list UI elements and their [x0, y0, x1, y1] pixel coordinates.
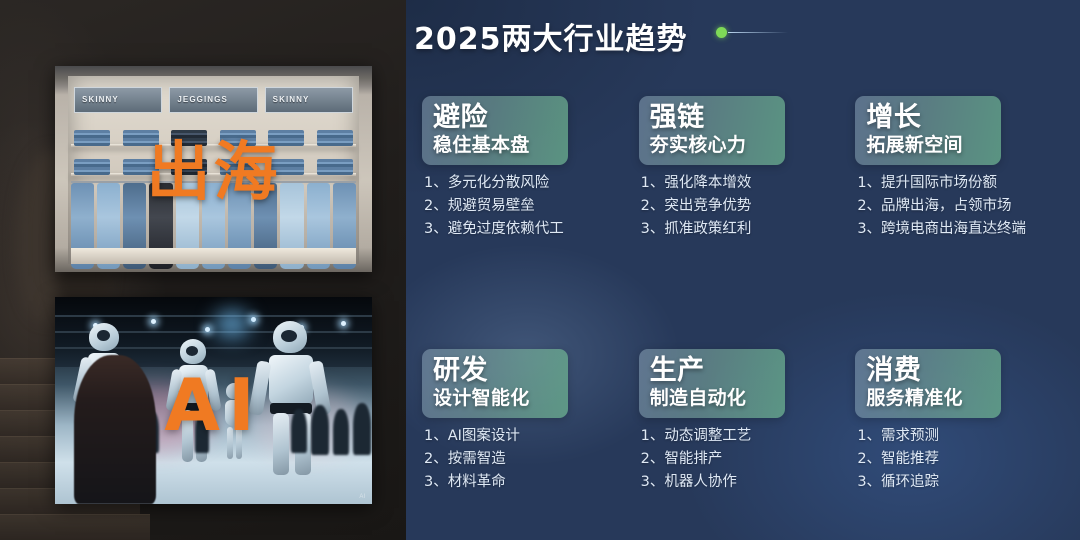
card-subtitle: 拓展新空间 [866, 134, 991, 157]
title-decoration [716, 27, 788, 38]
ai-robots-image: AI AI [55, 297, 372, 504]
page-title: 2025两大行业趋势 [414, 14, 688, 58]
card-badge: 生产 制造自动化 [639, 349, 785, 418]
card-bullet-list: 1、提升国际市场份额 2、品牌出海，占领市场 3、跨境电商出海直达终端 [855, 172, 1063, 241]
left-image-panel: SKINNY JEGGINGS SKINNY [0, 0, 406, 540]
card-badge: 避险 稳住基本盘 [422, 96, 568, 165]
card-bullet: 2、突出竞争优势 [641, 195, 847, 218]
trend-card[interactable]: 消费 服务精准化 1、需求预测 2、智能推荐 3、循环追踪 [855, 349, 1063, 494]
card-bullet: 3、避免过度依赖代工 [424, 218, 630, 241]
slide-canvas: SKINNY JEGGINGS SKINNY [0, 0, 1080, 540]
card-title: 强链 [650, 103, 775, 132]
card-bullet: 3、机器人协作 [641, 471, 847, 494]
shelf-sign: SKINNY [265, 87, 353, 114]
card-title: 增长 [866, 103, 991, 132]
card-badge: 增长 拓展新空间 [855, 96, 1001, 165]
card-bullet: 1、动态调整工艺 [641, 425, 847, 448]
trend-card[interactable]: 生产 制造自动化 1、动态调整工艺 2、智能排产 3、机器人协作 [639, 349, 847, 494]
decoration-line [728, 32, 788, 34]
card-bullet: 1、提升国际市场份额 [857, 172, 1063, 195]
card-badge: 消费 服务精准化 [855, 349, 1001, 418]
card-bullet: 1、AI图案设计 [424, 425, 630, 448]
card-bullet: 2、智能推荐 [857, 448, 1063, 471]
trend-card[interactable]: 强链 夯实核心力 1、强化降本增效 2、突出竞争优势 3、抓准政策红利 [639, 96, 847, 241]
shelf-sign-label: JEGGINGS [177, 95, 228, 104]
card-bullet: 1、需求预测 [857, 425, 1063, 448]
trend-card[interactable]: 避险 稳住基本盘 1、多元化分散风险 2、规避贸易壁垒 3、避免过度依赖代工 [422, 96, 630, 241]
card-badge: 研发 设计智能化 [422, 349, 568, 418]
card-bullet-list: 1、需求预测 2、智能推荐 3、循环追踪 [855, 425, 1063, 494]
shelf-sign-label: SKINNY [273, 95, 310, 104]
shelf-sign: SKINNY [74, 87, 162, 114]
content-panel: 2025两大行业趋势 避险 稳住基本盘 1、多元化分散风险 2、规避贸易壁垒 3… [406, 0, 1080, 540]
card-title: 生产 [650, 356, 775, 385]
image-watermark: AI [359, 494, 366, 500]
card-bullet: 2、规避贸易壁垒 [424, 195, 630, 218]
card-subtitle: 稳住基本盘 [433, 134, 558, 157]
foreground-person [74, 355, 156, 504]
card-bullet: 2、智能排产 [641, 448, 847, 471]
shelf-sign-row: SKINNY JEGGINGS SKINNY [74, 87, 353, 114]
image-overlay-label: AI [164, 363, 263, 447]
card-bullet-list: 1、多元化分散风险 2、规避贸易壁垒 3、避免过度依赖代工 [422, 172, 630, 241]
card-bullet: 2、按需智造 [424, 448, 630, 471]
card-bullet: 2、品牌出海，占领市场 [857, 195, 1063, 218]
trend-card-grid: 避险 稳住基本盘 1、多元化分散风险 2、规避贸易壁垒 3、避免过度依赖代工 强… [422, 96, 1072, 494]
shelf-sign: JEGGINGS [169, 87, 257, 114]
trend-card[interactable]: 增长 拓展新空间 1、提升国际市场份额 2、品牌出海，占领市场 3、跨境电商出海… [855, 96, 1063, 241]
card-bullet: 3、跨境电商出海直达终端 [857, 218, 1063, 241]
card-subtitle: 设计智能化 [433, 387, 558, 410]
card-title: 研发 [433, 356, 558, 385]
shelf-sign-label: SKINNY [82, 95, 119, 104]
card-bullet-list: 1、强化降本增效 2、突出竞争优势 3、抓准政策红利 [639, 172, 847, 241]
green-dot-icon [716, 27, 727, 38]
card-badge: 强链 夯实核心力 [639, 96, 785, 165]
jeans-store-image: SKINNY JEGGINGS SKINNY [55, 66, 372, 272]
card-bullet: 3、抓准政策红利 [641, 218, 847, 241]
card-title: 避险 [433, 103, 558, 132]
card-bullet-list: 1、AI图案设计 2、按需智造 3、材料革命 [422, 425, 630, 494]
card-bullet: 1、多元化分散风险 [424, 172, 630, 195]
card-subtitle: 夯实核心力 [650, 134, 775, 157]
card-bullet: 3、材料革命 [424, 471, 630, 494]
card-bullet: 1、强化降本增效 [641, 172, 847, 195]
image-overlay-label: 出海 [147, 121, 281, 213]
card-subtitle: 制造自动化 [650, 387, 775, 410]
trend-card[interactable]: 研发 设计智能化 1、AI图案设计 2、按需智造 3、材料革命 [422, 349, 630, 494]
card-bullet: 3、循环追踪 [857, 471, 1063, 494]
card-title: 消费 [866, 356, 991, 385]
card-bullet-list: 1、动态调整工艺 2、智能排产 3、机器人协作 [639, 425, 847, 494]
card-subtitle: 服务精准化 [866, 387, 991, 410]
